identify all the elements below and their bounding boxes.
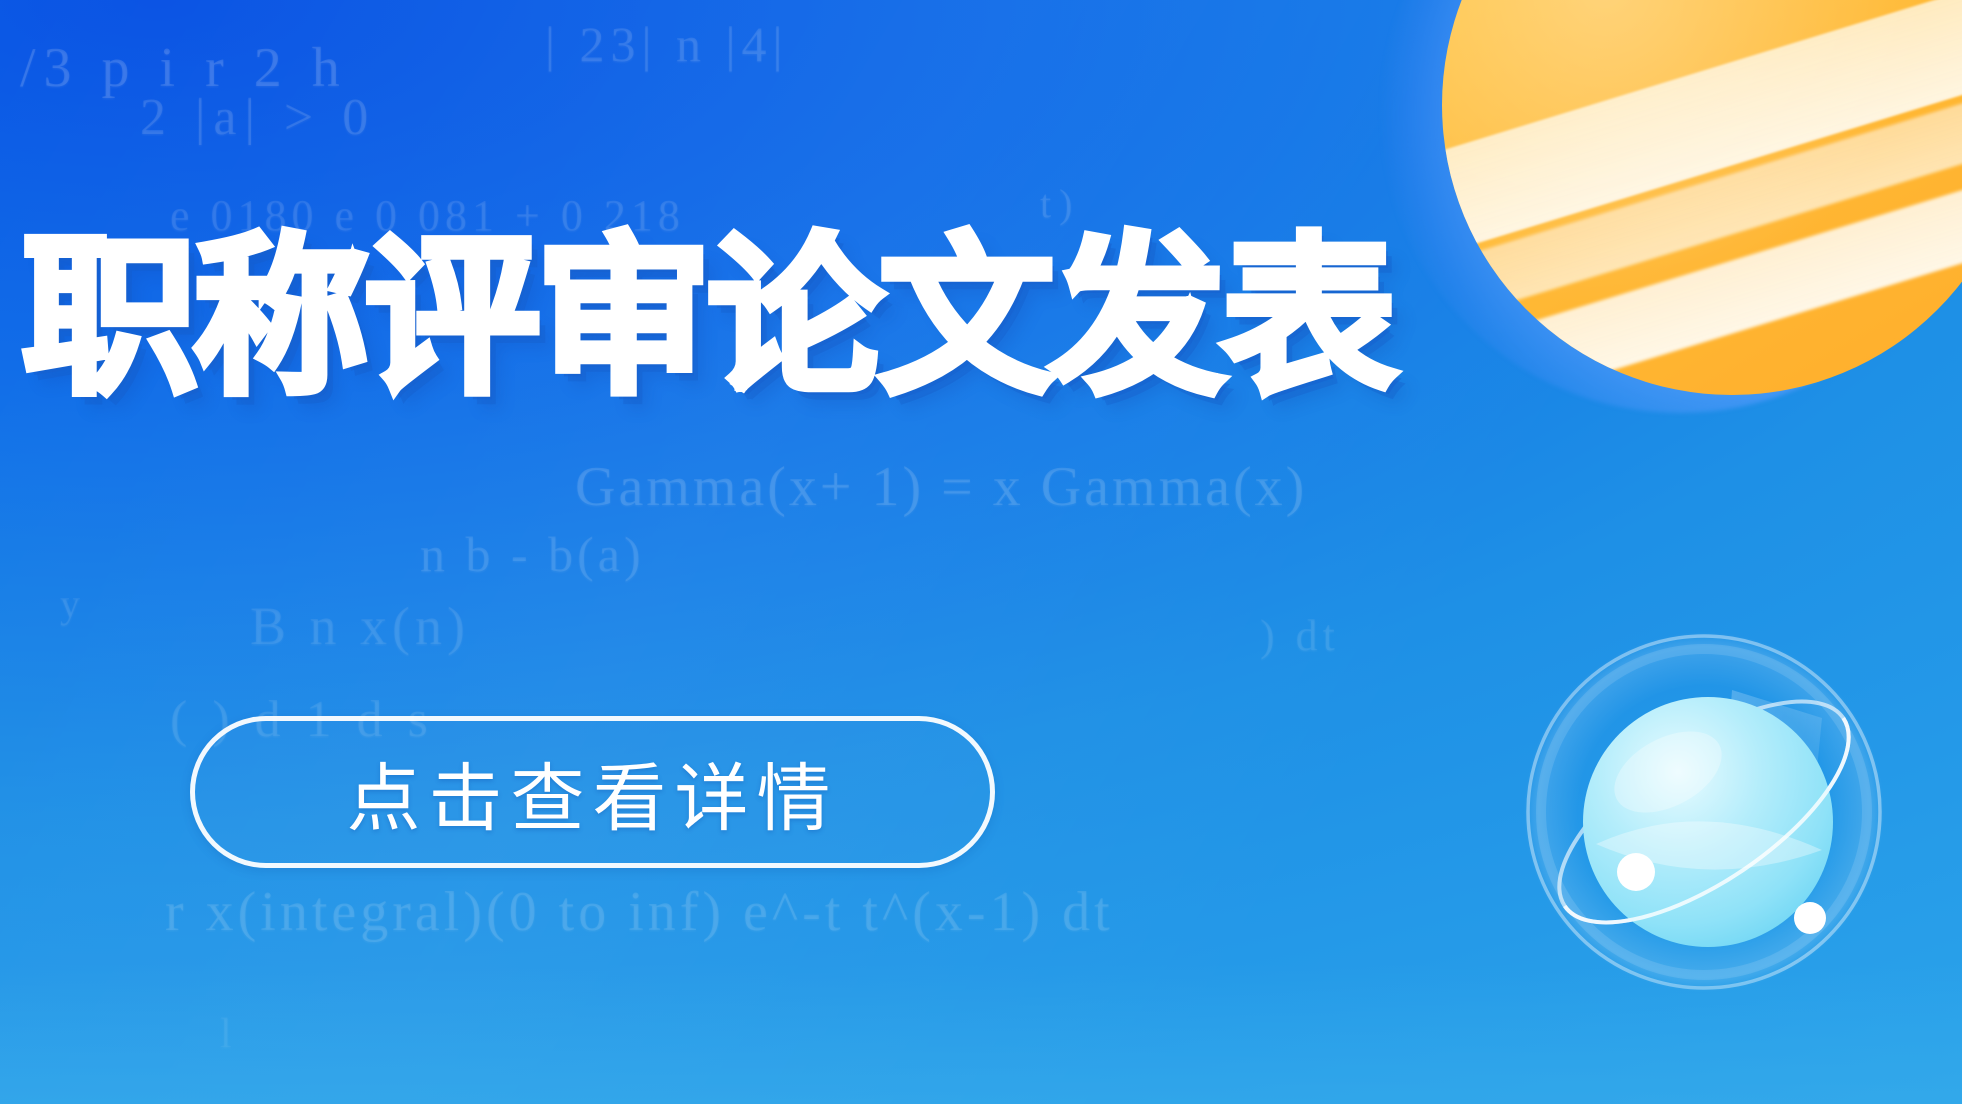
planet-body	[1442, 0, 1962, 395]
atom-sphere-highlight	[1601, 715, 1735, 829]
planet-glow	[1380, 0, 1962, 413]
formula-watermark: 2 |a| > 0	[140, 88, 376, 147]
planet-band	[1442, 67, 1962, 340]
atom-sphere-sheen	[1596, 821, 1822, 869]
atom-svg	[1492, 600, 1912, 1020]
page-title: 职称评审论文发表	[22, 232, 1409, 404]
formula-watermark: Gamma(x+ 1) = x Gamma(x)	[575, 455, 1307, 519]
formula-watermark: r x(integral)(0 to inf) e^-t t^(x-1) dt	[165, 880, 1114, 944]
view-details-button-label: 点击查看详情	[347, 739, 839, 846]
atom-orbit-back	[1526, 660, 1883, 964]
formula-watermark: l	[220, 1010, 237, 1058]
atom-halo	[1524, 632, 1884, 992]
formula-watermark: /3 p i r 2 h	[20, 36, 348, 100]
background-sheen	[0, 0, 1962, 1104]
atom-orbit-front	[1565, 718, 1883, 964]
saturn-planet-icon	[1432, 0, 1962, 425]
planet-highlight	[1442, 0, 1962, 395]
view-details-button[interactable]: 点击查看详情	[190, 716, 995, 868]
atom-wedge	[1724, 690, 1822, 840]
bottom-fade	[0, 964, 1962, 1104]
formula-watermark: | 23| n |4|	[545, 15, 789, 73]
planet-band	[1442, 0, 1962, 269]
atom-electron	[1617, 853, 1655, 891]
promo-banner: /3 p i r 2 h 2 |a| > 0 | 23| n |4| t) e …	[0, 0, 1962, 1104]
formula-watermark: ) dt	[1260, 610, 1340, 661]
formula-watermark: y	[60, 580, 86, 627]
atom-electron	[1794, 902, 1826, 934]
formula-watermark: n b - b(a)	[420, 525, 645, 583]
atom-core-sphere	[1583, 697, 1833, 947]
atom-orbit-sphere-icon	[1492, 600, 1912, 1020]
formula-watermark: B n x(n)	[250, 595, 470, 657]
atom-inner-glow-ring	[1541, 649, 1867, 975]
atom-outer-ring	[1528, 636, 1880, 988]
planet-band	[1442, 155, 1962, 395]
